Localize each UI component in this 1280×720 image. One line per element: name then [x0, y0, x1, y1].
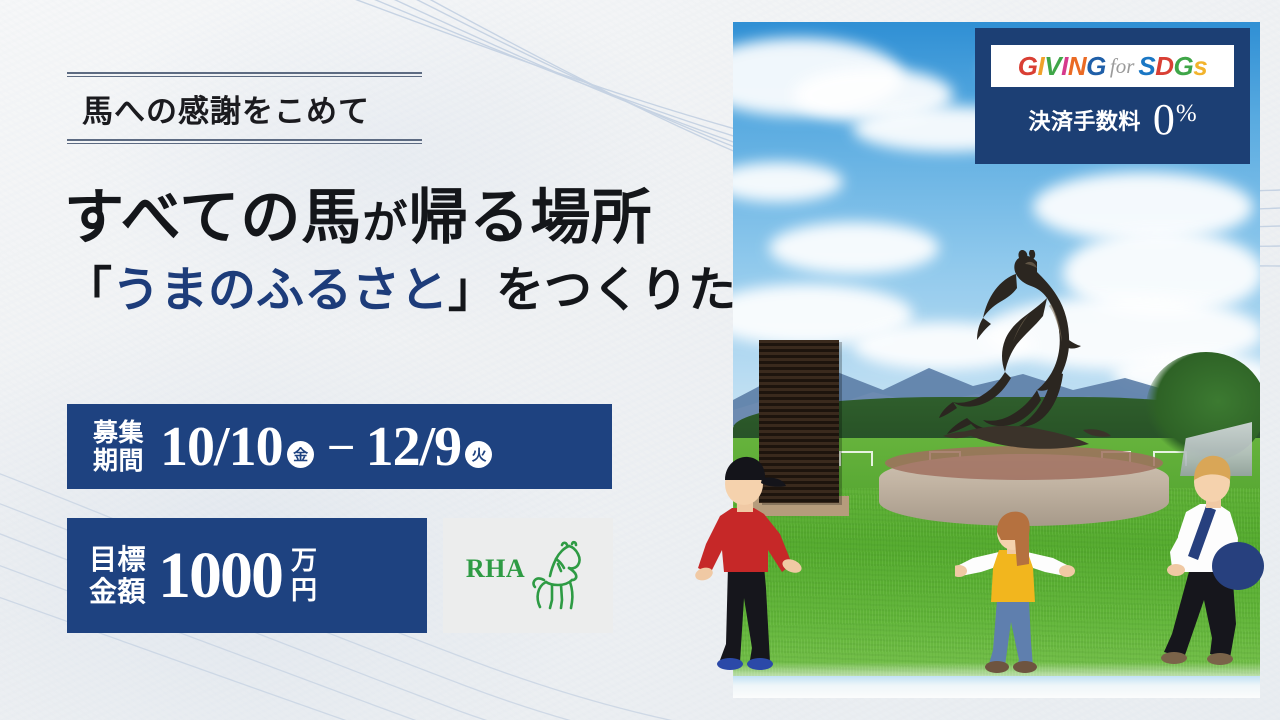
sdgs-letter-i1: I: [1038, 51, 1045, 82]
sdgs-letter-i2: I: [1061, 51, 1068, 82]
payment-fee-row: 決済手数料 0 %: [1028, 100, 1196, 140]
period-separator: –: [330, 416, 352, 469]
headline-particle: が: [362, 198, 408, 248]
cloud: [769, 222, 939, 274]
rha-horse-icon: [528, 540, 590, 612]
period-label: 募集 期間: [93, 419, 144, 475]
headline-accent-text: うまのふるさと: [112, 264, 448, 317]
sdgs-letter-s2: s: [1193, 51, 1207, 82]
fee-label: 決済手数料: [1028, 104, 1141, 136]
sdgs-letter-s: S: [1138, 51, 1155, 82]
person-figure-blue-bag: [1158, 448, 1278, 676]
sdgs-badge: G I V I N G for S D G s 決済手数料 0 %: [975, 28, 1250, 164]
sdgs-for-text: for: [1110, 54, 1135, 79]
giving-for-sdgs-logo: G I V I N G for S D G s: [991, 45, 1234, 87]
period-start-weekday: 金: [287, 441, 314, 468]
sdgs-letter-g2: G: [1086, 51, 1106, 82]
sdgs-letter-v: V: [1044, 51, 1061, 82]
period-start-date: 10/10: [160, 415, 283, 479]
period-end-weekday: 火: [465, 441, 492, 468]
headline-main-text: すべての馬: [64, 185, 362, 251]
goal-label: 目標 金額: [89, 544, 146, 607]
fee-unit: %: [1176, 100, 1197, 128]
quote-open: 「: [64, 264, 112, 317]
eyebrow-rule-bottom: [67, 139, 422, 144]
rha-logo-tile: RHA: [443, 518, 613, 633]
headline-line-2: 「うまのふるさと」をつくりたい: [64, 265, 724, 318]
quote-close: 」: [448, 264, 496, 317]
goal-amount: 1000: [158, 538, 282, 614]
goal-unit-yen: 円: [291, 576, 317, 605]
sdgs-letter-n: N: [1068, 51, 1086, 82]
rha-wordmark: RHA: [466, 554, 525, 584]
horse-statue-icon: [933, 250, 1123, 470]
sdgs-letter-g3: G: [1174, 51, 1194, 82]
eyebrow-rule-top: [67, 72, 422, 77]
eyebrow-text: 馬への感謝をこめて: [67, 77, 422, 139]
eyebrow-block: 馬への感謝をこめて: [67, 72, 422, 144]
headline-tail-text: 帰る場所: [408, 185, 652, 251]
person-figure-yellow: [955, 510, 1075, 676]
fee-value: 0: [1153, 100, 1175, 140]
goal-post: [839, 451, 873, 466]
rha-logo: RHA: [466, 540, 590, 612]
page-title: すべての馬が帰る場所 「うまのふるさと」をつくりたい: [64, 186, 724, 318]
period-value: 10/10 金 – 12/9 火: [160, 415, 494, 479]
goal-value: 1000 万 円: [158, 538, 317, 614]
sdgs-letter-d: D: [1155, 51, 1173, 82]
campaign-period-badge: 募集 期間 10/10 金 – 12/9 火: [67, 404, 612, 489]
left-content-column: 馬への感謝をこめて すべての馬が帰る場所 「うまのふるさと」をつくりたい 募集 …: [0, 0, 733, 720]
campaign-poster: 馬への感謝をこめて すべての馬が帰る場所 「うまのふるさと」をつくりたい 募集 …: [0, 0, 1280, 720]
goal-unit-man: 万: [291, 546, 317, 575]
period-end-date: 12/9: [366, 415, 462, 479]
goal-unit: 万 円: [291, 546, 317, 604]
headline-line-1: すべての馬が帰る場所: [64, 186, 724, 251]
funding-goal-badge: 目標 金額 1000 万 円: [67, 518, 427, 633]
sdgs-letter-g1: G: [1018, 51, 1038, 82]
person-figure-red: [692, 448, 802, 676]
